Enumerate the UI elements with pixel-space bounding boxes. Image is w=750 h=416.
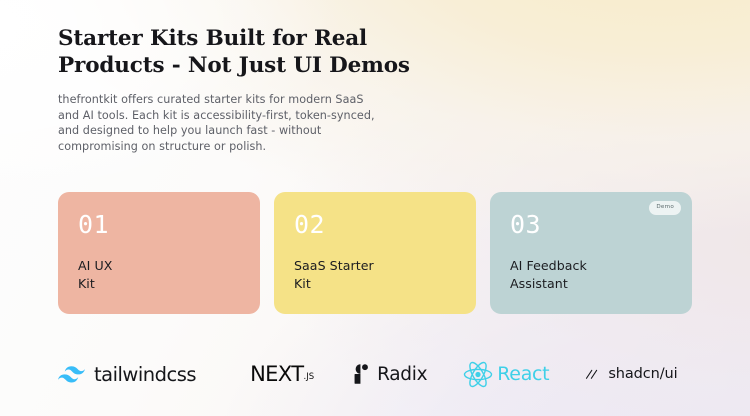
- logo-label-radix: Radix: [377, 364, 427, 385]
- page-description-line-3: and designed to help you launch fast - w…: [58, 123, 408, 139]
- logo-label-shadcn: shadcn/ui: [608, 366, 677, 382]
- card-title: AI UX Kit: [78, 257, 240, 292]
- nextjs-wordmark-icon: NEXT.JS: [250, 362, 314, 386]
- logo-label-nextjs: NEXT: [250, 362, 303, 386]
- card-title: AI Feedback Assistant: [510, 257, 672, 292]
- landing-page: Starter Kits Built for Real Products - N…: [0, 0, 750, 416]
- card-number: 01: [78, 211, 240, 239]
- card-title-line-2: Assistant: [510, 275, 672, 293]
- logo-shadcn: shadcn/ui: [585, 352, 677, 396]
- react-atom-icon: [463, 361, 493, 388]
- card-title-line-1: SaaS Starter: [294, 257, 456, 275]
- page-title-line-2: Products - Not Just UI Demos: [58, 53, 488, 80]
- logo-label-nextjs-suffix: .JS: [304, 372, 315, 382]
- card-title-line-1: AI UX: [78, 257, 240, 275]
- card-title: SaaS Starter Kit: [294, 257, 456, 292]
- logo-label-react: React: [497, 363, 549, 385]
- demo-badge[interactable]: Demo: [649, 201, 681, 215]
- page-title-line-1: Starter Kits Built for Real: [58, 26, 488, 53]
- card-title-line-2: Kit: [294, 275, 456, 293]
- page-description-line-1: thefrontkit offers curated starter kits …: [58, 92, 408, 108]
- logo-radix: Radix: [354, 352, 427, 396]
- starter-kit-card-03[interactable]: Demo 03 AI Feedback Assistant: [490, 192, 692, 314]
- card-title-line-1: AI Feedback: [510, 257, 672, 275]
- card-title-line-2: Kit: [78, 275, 240, 293]
- radix-icon: [354, 364, 368, 384]
- technology-logo-strip: tailwindcss NEXT.JS Radix: [58, 352, 692, 396]
- tailwind-wave-icon: [58, 366, 85, 383]
- logo-label-tailwindcss: tailwindcss: [94, 363, 196, 386]
- starter-kit-card-01[interactable]: 01 AI UX Kit: [58, 192, 260, 314]
- shadcn-slash-icon: [585, 368, 600, 381]
- page-description-line-4: compromising on structure or polish.: [58, 139, 408, 155]
- page-description: thefrontkit offers curated starter kits …: [58, 92, 408, 154]
- logo-nextjs: NEXT.JS: [250, 352, 314, 396]
- card-number: 02: [294, 211, 456, 239]
- card-number: 03: [510, 211, 672, 239]
- logo-react: React: [463, 352, 549, 396]
- starter-kit-card-02[interactable]: 02 SaaS Starter Kit: [274, 192, 476, 314]
- page-description-line-2: and AI tools. Each kit is accessibility-…: [58, 108, 408, 124]
- starter-kit-card-list: 01 AI UX Kit 02 SaaS Starter Kit Demo 03…: [58, 192, 692, 314]
- logo-tailwindcss: tailwindcss: [58, 352, 196, 396]
- page-title: Starter Kits Built for Real Products - N…: [58, 26, 488, 79]
